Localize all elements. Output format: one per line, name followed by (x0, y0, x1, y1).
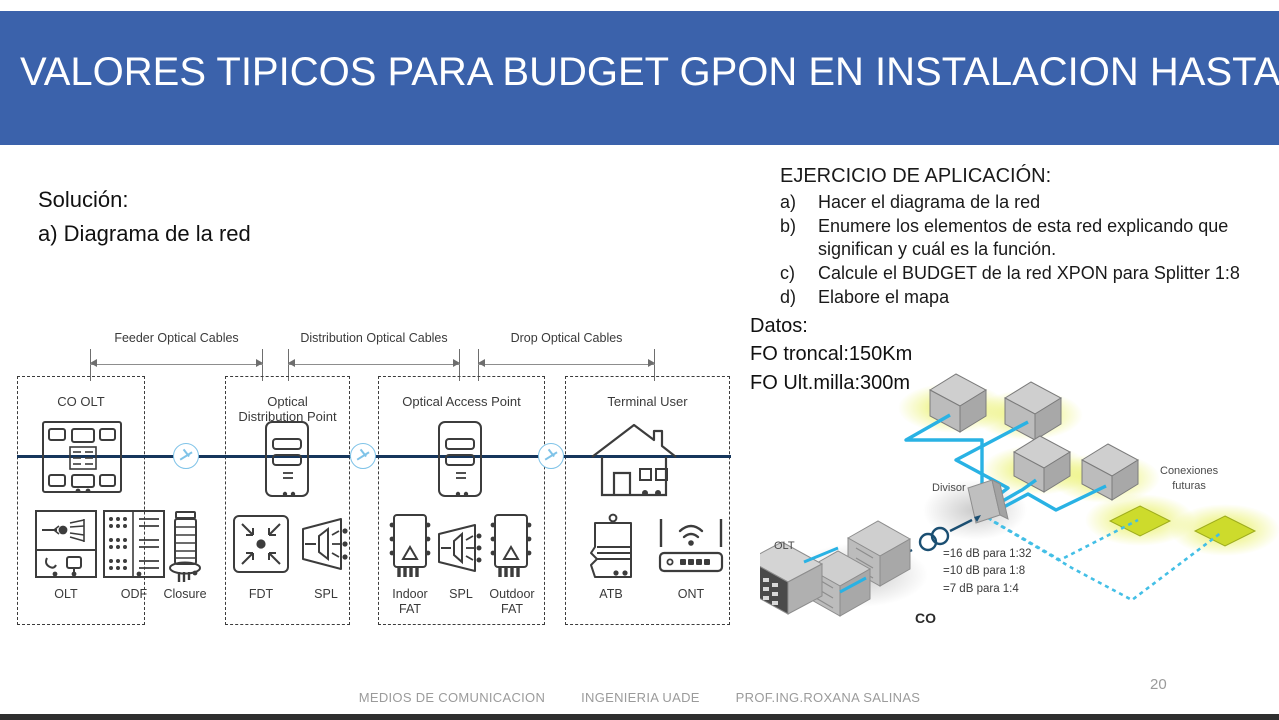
section-title: Optical Access Point (379, 395, 544, 410)
bracket-line (478, 364, 655, 365)
exercise-marker: a) (780, 191, 818, 214)
spl-icon-1 (297, 515, 355, 578)
olt-device-icon (35, 510, 97, 583)
exercise-title: EJERCICIO DE APLICACIÓN: (780, 164, 1279, 189)
iso-future-connections-label: Conexiones futuras (1160, 464, 1218, 494)
fdt-icon (233, 515, 289, 578)
solution-heading: Solución: a) Diagrama de la red (38, 183, 251, 251)
budget-line-3: =7 dB para 1:4 (943, 581, 1032, 598)
bracket-arrow-right (453, 359, 460, 367)
iso-olt-label: OLT (774, 540, 795, 552)
exercise-item-a: a) Hacer el diagrama de la red (780, 191, 1279, 214)
closure-label: Closure (150, 587, 220, 602)
footer-item-professor: PROF.ING.ROXANA SALINAS (736, 690, 921, 705)
outdoor-fat-label-line2: FAT (479, 602, 545, 617)
footer-rule (0, 714, 1279, 720)
iso-divisor-label: Divisor (932, 482, 966, 494)
section-title: Terminal User (566, 395, 729, 410)
page-number: 20 (1150, 676, 1167, 693)
bracket-arrow-right (648, 359, 655, 367)
exercise-item-c: c) Calcule el BUDGET de la red XPON para… (780, 262, 1279, 285)
olt-cabinet-icon (42, 421, 122, 498)
optical-connector-icon-1 (173, 443, 199, 469)
spl-label-1: SPL (297, 587, 355, 602)
atb-label: ATB (578, 587, 644, 602)
spl-icon-2 (434, 521, 488, 580)
outdoor-fat-label-line1: Outdoor (479, 587, 545, 602)
solution-item-a: a) Diagrama de la red (38, 217, 251, 251)
fdt-label: FDT (233, 587, 289, 602)
datos-label: Datos: (750, 312, 912, 340)
exercise-item-d: d) Elabore el mapa (780, 286, 1279, 309)
indoor-fat-label: Indoor FAT (378, 587, 442, 617)
exercise-item-b: b) Enumere los elementos de esta red exp… (780, 215, 1279, 261)
bracket-label: Drop Optical Cables (511, 331, 623, 345)
bracket-arrow-left (288, 359, 295, 367)
odf-device-icon (103, 510, 165, 583)
network-diagram: Feeder Optical Cables Distribution Optic… (0, 325, 760, 635)
bracket-arrow-right (256, 359, 263, 367)
budget-line-2: =10 dB para 1:8 (943, 563, 1032, 580)
bracket-label: Feeder Optical Cables (114, 331, 238, 345)
odp-cabinet-icon (265, 421, 309, 502)
olt-device-label: OLT (35, 587, 97, 602)
section-title: CO OLT (18, 395, 144, 410)
bracket-label: Distribution Optical Cables (300, 331, 447, 345)
bracket-line (288, 364, 460, 365)
outdoor-fat-icon (487, 513, 535, 590)
footer: MEDIOS DE COMUNICACION INGENIERIA UADE P… (0, 690, 1279, 705)
ont-icon (652, 515, 730, 586)
footer-item-institution: INGENIERIA UADE (581, 690, 700, 705)
oap-cabinet-icon (438, 421, 482, 502)
exercise-text: Hacer el diagrama de la red (818, 191, 1279, 214)
atb-icon (585, 513, 639, 588)
gpon-isometric-illustration: OLT CO Divisor Conexiones futuras =16 dB… (760, 360, 1279, 650)
house-icon (588, 421, 680, 504)
exercise-text: Calcule el BUDGET de la red XPON para Sp… (818, 262, 1279, 285)
future-label-line1: Conexiones (1160, 464, 1218, 479)
budget-line-1: =16 dB para 1:32 (943, 546, 1032, 563)
solution-label: Solución: (38, 183, 251, 217)
page-title: VALORES TIPICOS PARA BUDGET GPON EN INST… (20, 50, 1260, 94)
indoor-fat-icon (386, 513, 434, 590)
outdoor-fat-label: Outdoor FAT (479, 587, 545, 617)
footer-item-course: MEDIOS DE COMUNICACION (359, 690, 545, 705)
exercise-text: Elabore el mapa (818, 286, 1279, 309)
future-label-line2: futuras (1160, 479, 1218, 494)
exercise-text: Enumere los elementos de esta red explic… (818, 215, 1279, 261)
exercise-list: a) Hacer el diagrama de la red b) Enumer… (780, 191, 1279, 309)
exercise-marker: d) (780, 286, 818, 309)
bracket-line (90, 364, 263, 365)
exercise-marker: c) (780, 262, 818, 285)
indoor-fat-label-line2: FAT (378, 602, 442, 617)
indoor-fat-label-line1: Indoor (378, 587, 442, 602)
ont-label: ONT (652, 587, 730, 602)
bracket-arrow-left (90, 359, 97, 367)
exercise-block: EJERCICIO DE APLICACIÓN: a) Hacer el dia… (780, 164, 1279, 310)
iso-co-label: CO (915, 610, 936, 626)
splitter-budget-annotations: =16 dB para 1:32 =10 dB para 1:8 =7 dB p… (943, 546, 1032, 598)
optical-connector-icon-3 (538, 443, 564, 469)
bracket-arrow-left (478, 359, 485, 367)
section-title-line1: Optical (226, 395, 349, 410)
exercise-marker: b) (780, 215, 818, 261)
optical-connector-icon-2 (350, 443, 376, 469)
closure-icon (162, 510, 208, 591)
